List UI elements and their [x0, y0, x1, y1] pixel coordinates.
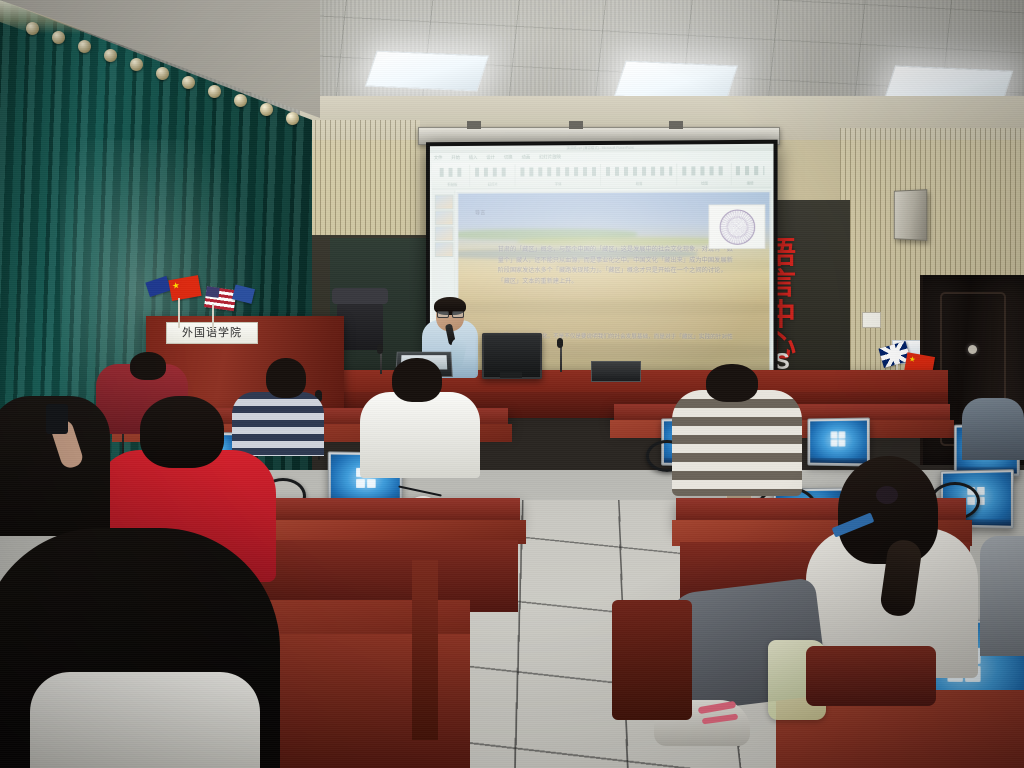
ribbon-group-paragraph[interactable]: 段落 — [602, 164, 677, 186]
slide-thumbnail[interactable] — [435, 226, 454, 241]
flag-eu — [145, 276, 171, 297]
flag-group-podium — [150, 278, 260, 326]
wall-light-switch[interactable] — [862, 312, 881, 328]
desk-microphone-head — [377, 344, 383, 354]
audience-person-grey-top — [962, 398, 1024, 460]
slide-thumbnail[interactable] — [435, 210, 454, 225]
flag-canton — [206, 286, 220, 298]
desk-microphone-stem — [560, 346, 562, 372]
ribbon-tab-slideshow[interactable]: 幻灯片放映 — [539, 154, 561, 160]
slide-thumbnail[interactable] — [435, 242, 454, 257]
shoe-lace — [702, 714, 738, 725]
slide-body-text: 甘肃的「藏区」概念，与整个中国的「藏区」这是发展中的社会文化现象，对现有「数量个… — [498, 245, 736, 288]
foreground-person-white-top — [30, 672, 260, 768]
university-seal-icon — [709, 204, 766, 248]
person-head — [130, 352, 166, 380]
person-head — [266, 358, 306, 398]
desk-microphone-stem — [380, 352, 382, 374]
desk-leg-panel — [612, 600, 692, 720]
audience-person-striped-shirt — [232, 392, 324, 456]
person-head — [706, 364, 758, 402]
flag-pole — [178, 298, 180, 328]
desk-microphone-head — [557, 338, 563, 348]
housing-bracket — [569, 121, 583, 129]
chair-backrest — [332, 288, 388, 304]
housing-bracket — [467, 121, 481, 129]
ribbon-tab-transitions[interactable]: 切换 — [504, 155, 513, 161]
housing-bracket — [669, 121, 683, 129]
seal-circle — [719, 209, 755, 244]
shoe-lace — [698, 701, 737, 714]
ribbon-group-font[interactable]: 字体 — [517, 164, 601, 186]
ribbon-group-drawing[interactable]: 绘图 — [678, 163, 732, 185]
presenter-glasses-icon — [437, 311, 463, 317]
ribbon-tab-insert[interactable]: 插入 — [469, 155, 478, 161]
ribbon-group-clipboard[interactable]: 剪贴板 — [436, 165, 470, 187]
ribbon-tab-file[interactable]: 文件 — [434, 155, 443, 161]
flag-star — [172, 282, 180, 290]
av-control-device[interactable] — [591, 361, 641, 382]
flag-star — [909, 356, 916, 363]
chair-back — [806, 646, 936, 706]
lab-monitor[interactable] — [807, 417, 870, 466]
hair-tie — [876, 486, 898, 504]
audience-person-right-edge — [980, 536, 1024, 656]
flag-blue — [232, 284, 255, 303]
smartphone-camera[interactable] — [46, 404, 68, 434]
wall-speaker-right — [894, 189, 927, 241]
flag-pole — [212, 304, 214, 330]
slide-heading: 导言 — [475, 209, 486, 216]
lecture-hall-photo: 语言中心 ES — [0, 0, 1024, 768]
presenter-monitor-stand — [500, 372, 522, 378]
ribbon-group-editing[interactable]: 编辑 — [733, 163, 768, 185]
ceiling-light-panel-1 — [365, 51, 489, 92]
windows-logo-icon — [831, 432, 846, 447]
desk-leg — [412, 560, 438, 740]
audience-person-striped-polo — [672, 390, 802, 496]
audience-person-white-shirt — [360, 392, 480, 478]
curtain-grommet-row — [0, 0, 320, 140]
door-knob[interactable] — [968, 345, 977, 354]
powerpoint-ribbon[interactable]: 剪贴板 幻灯片 字体 段落 — [432, 161, 772, 190]
ribbon-tab-animations[interactable]: 动画 — [521, 154, 530, 160]
person-head — [392, 358, 442, 402]
windows7-desktop — [810, 421, 867, 464]
ribbon-group-slides[interactable]: 幻灯片 — [471, 165, 515, 187]
ribbon-tab-design[interactable]: 设计 — [486, 155, 495, 161]
ribbon-tab-home[interactable]: 开始 — [451, 155, 460, 161]
slide-thumbnail[interactable] — [435, 195, 454, 210]
flag-china-podium — [168, 275, 201, 301]
person-head — [140, 396, 224, 468]
